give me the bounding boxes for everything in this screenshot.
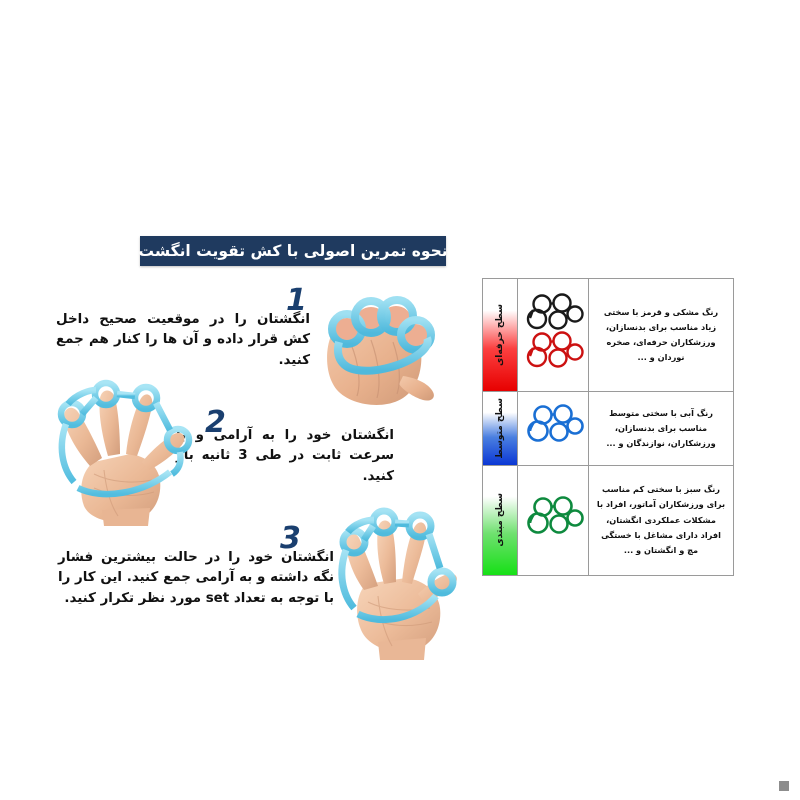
step-2-hand-photo (32, 370, 204, 526)
level-label-intermediate: سطح متوسط (495, 398, 505, 459)
level-badge-intermediate: سطح متوسط (483, 392, 518, 465)
finger-stretcher-black-red-icon (520, 290, 586, 376)
table-row: رنگ آبی با سختی متوسط مناسب برای بدنسازا… (483, 392, 734, 465)
level-badge-beginner: سطح مبتدی (483, 465, 518, 576)
step-3-hand-photo (312, 498, 468, 660)
page-title: نحوه تمرین اصولی با کش تقویت انگشت (138, 242, 447, 260)
level-description-intermediate: رنگ آبی با سختی متوسط مناسب برای بدنسازا… (589, 392, 734, 465)
step-text-2: انگشتان خود را به آرامی و با سرعت ثابت د… (176, 426, 394, 487)
page-title-banner: نحوه تمرین اصولی با کش تقویت انگشت (140, 236, 446, 266)
step-1-hand-photo (303, 272, 451, 422)
level-device-image-intermediate (518, 392, 589, 465)
level-label-beginner: سطح مبتدی (495, 493, 505, 547)
level-label-professional: سطح حرفه‌ای (495, 304, 505, 366)
table-row: رنگ مشکی و قرمز با سختی زیاد مناسب برای … (483, 279, 734, 392)
level-device-image-beginner (518, 465, 589, 576)
level-badge-professional: سطح حرفه‌ای (483, 279, 518, 392)
level-device-image-professional (518, 279, 589, 392)
finger-stretcher-blue-icon (520, 399, 586, 453)
finger-stretcher-green-icon (520, 491, 586, 545)
level-gradient-intermediate: سطح متوسط (483, 392, 517, 464)
level-gradient-professional: سطح حرفه‌ای (483, 279, 517, 391)
step-text-3: انگشتان خود را در حالت بیشترین فشار نگه … (58, 548, 334, 609)
infographic-canvas: نحوه تمرین اصولی با کش تقویت انگشت 1 انگ… (0, 0, 800, 800)
table-row: رنگ سبز با سختی کم مناسب برای ورزشکاران … (483, 465, 734, 576)
level-description-beginner: رنگ سبز با سختی کم مناسب برای ورزشکاران … (589, 465, 734, 576)
levels-spec-table: رنگ مشکی و قرمز با سختی زیاد مناسب برای … (482, 278, 734, 576)
level-gradient-beginner: سطح مبتدی (483, 466, 517, 576)
step-text-1: انگشتان را در موقعیت صحیح داخل کش قرار د… (56, 310, 310, 371)
corner-marker (779, 781, 789, 791)
level-description-professional: رنگ مشکی و قرمز با سختی زیاد مناسب برای … (589, 279, 734, 392)
